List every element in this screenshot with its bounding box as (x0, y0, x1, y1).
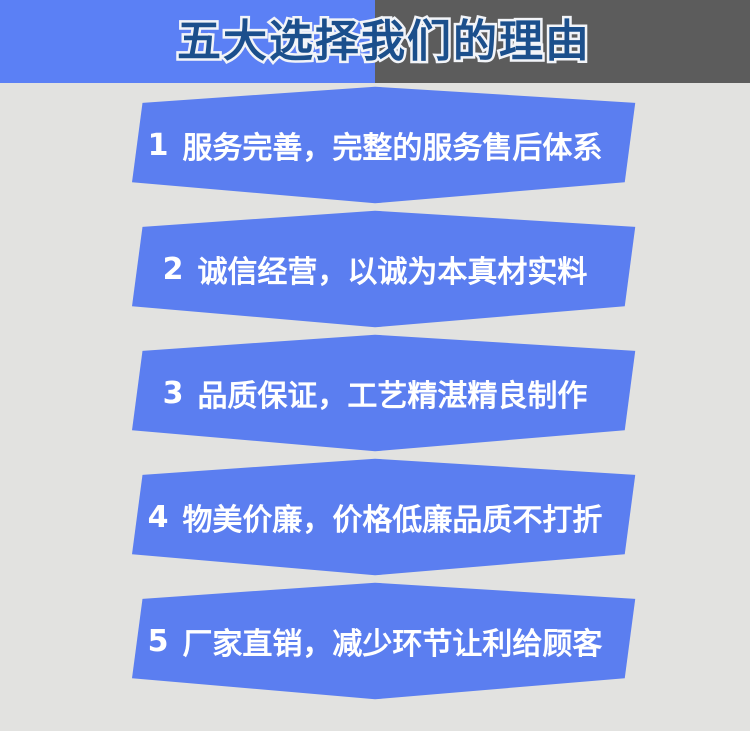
banner-shape (0, 83, 750, 207)
header-bar: 五大选择我们的理由 (0, 0, 750, 83)
list-item[interactable]: 5 厂家直销，减少环节让利给顾客 (0, 579, 750, 703)
banner-shape (0, 331, 750, 455)
page-title: 五大选择我们的理由 (0, 0, 750, 83)
banner-shape (0, 455, 750, 579)
list-item[interactable]: 2 诚信经营，以诚为本真材实料 (0, 207, 750, 331)
list-item[interactable]: 1 服务完善，完整的服务售后体系 (0, 83, 750, 207)
reasons-list: 1 服务完善，完整的服务售后体系 2 诚信经营，以诚为本真材实料 3 品质保证，… (0, 83, 750, 731)
list-item[interactable]: 4 物美价廉，价格低廉品质不打折 (0, 455, 750, 579)
banner-shape (0, 579, 750, 703)
banner-shape (0, 207, 750, 331)
list-item[interactable]: 3 品质保证，工艺精湛精良制作 (0, 331, 750, 455)
